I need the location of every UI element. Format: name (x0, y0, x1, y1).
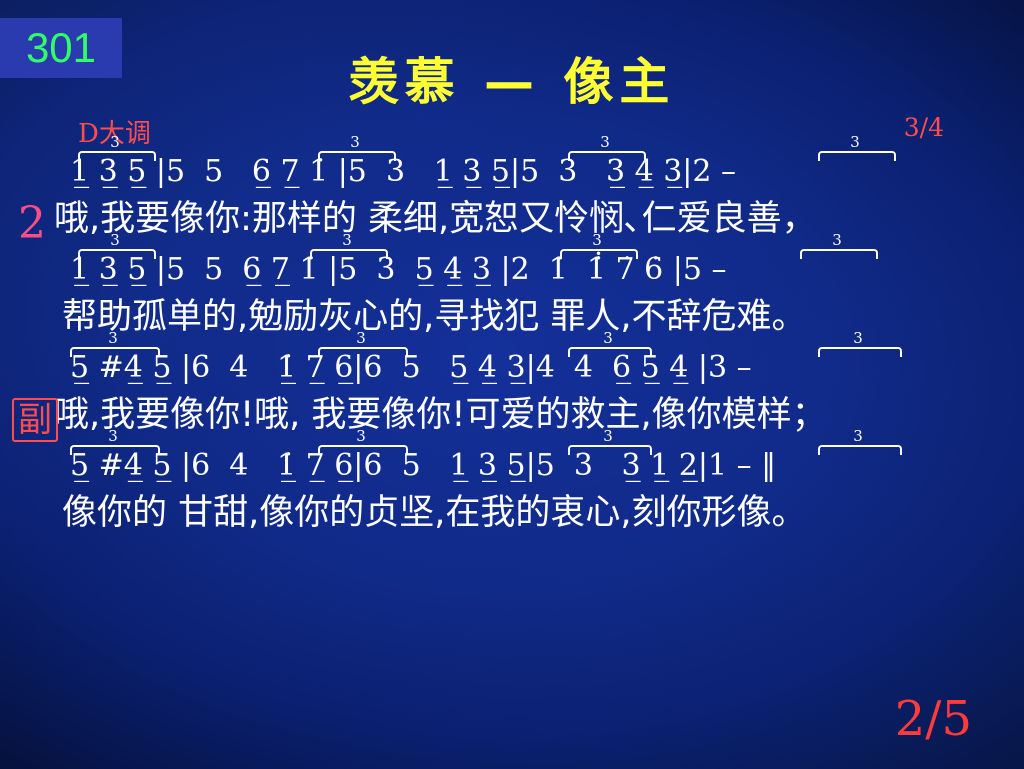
refrain-marker: 副 (12, 392, 58, 441)
lyrics-row: 像你的 甘甜,像你的贞坚,在我的衷心,刻你形像。 (0, 488, 1024, 538)
score-system: 5̲ #4̲ 5̲ |6 4 1̲̇ 7̲ 6̲|6 5 1̲ 3̲ 5̲|5 … (0, 444, 1024, 538)
key-signature: D大调 (78, 113, 151, 150)
triplet-number: 3 (318, 133, 392, 151)
note-row: 1̲ 3̲ 5̲ |5 5 6̲ 7̲ 1̇ |5 3 5̲ 4̲ 3̲ |2 … (0, 248, 1024, 292)
note-row: 5̲ #4̲ 5̲ |6 4 1̲̇ 7̲ 6̲|6 5 1̲ 3̲ 5̲|5 … (0, 444, 1024, 488)
lyrics-row: 帮助孤单的,勉励灰心的,寻找犯 罪人,不辞危难。 (0, 292, 1024, 342)
score-system: 1̲ 3̲ 5̲ |5 5 6̲ 7̲ 1̇ |5 3 5̲ 4̲ 3̲ |2 … (0, 248, 1024, 342)
triplet-number: 3 (568, 133, 642, 151)
page-indicator: 2/5 (895, 691, 972, 747)
note-row: 1̲ 3̲ 5̲ |5 5 6̲ 7̲ 1̇ |5 3 1̲ 3̲ 5̲|5 3… (0, 150, 1024, 194)
score-system: 1̲ 3̲ 5̲ |5 5 6̲ 7̲ 1̇ |5 3 1̲ 3̲ 5̲|5 3… (0, 150, 1024, 244)
verse-marker: 2 (18, 198, 46, 249)
music-score: 1̲ 3̲ 5̲ |5 5 6̲ 7̲ 1̇ |5 3 1̲ 3̲ 5̲|5 3… (0, 150, 1024, 542)
page-title: 羡慕 — 像主 (0, 42, 1024, 114)
time-signature: 3/4 (904, 113, 944, 142)
score-system: 5̲ #4̲ 5̲ |6 4 1̲̇ 7̲ 6̲|6 5 5̲ 4̲ 3̲|4 … (0, 346, 1024, 440)
lyrics-row: 哦,我要像你:那样的 柔细,宽恕又怜悯､仁爱良善， (0, 194, 1024, 244)
refrain-marker-label: 副 (12, 398, 58, 442)
triplet-number: 3 (818, 133, 892, 151)
lyrics-row: 哦,我要像你!哦, 我要像你!可爱的救主,像你模样； (0, 390, 1024, 440)
note-row: 5̲ #4̲ 5̲ |6 4 1̲̇ 7̲ 6̲|6 5 5̲ 4̲ 3̲|4 … (0, 346, 1024, 390)
